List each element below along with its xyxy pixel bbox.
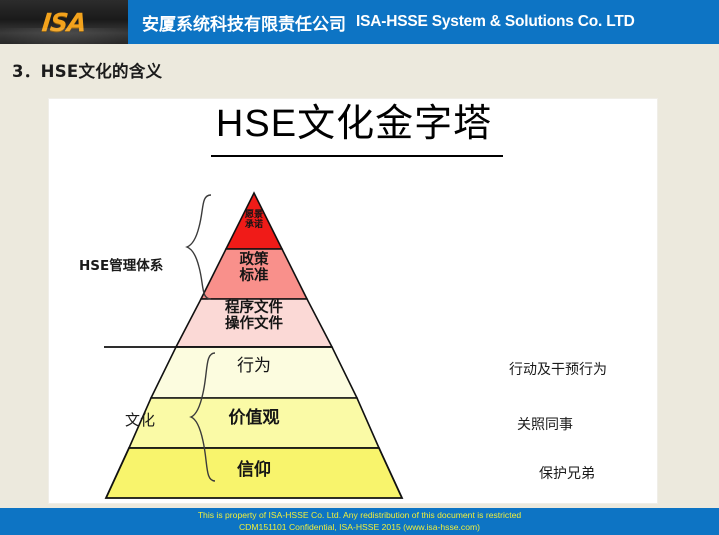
tier-label-procedure-line1: 程序文件 [169,301,339,317]
page-title: 3．HSE文化的含义 [12,58,162,82]
tier-label-values: 价值观 [159,409,349,427]
isa-logo: ISA [41,8,88,37]
tier-label-procedure-line2: 操作文件 [169,317,339,333]
header-title-bar: 安厦系统科技有限责任公司 ISA-HSSE System & Solutions… [128,0,719,44]
right-label-belief-note: 保护兄弟 [539,463,595,483]
left-label-culture: 文化 [125,409,155,430]
app-header: ISA 安厦系统科技有限责任公司 ISA-HSSE System & Solut… [0,0,719,44]
company-name-chinese: 安厦系统科技有限责任公司 [142,10,346,35]
tier-label-vision: 愿景 承诺 [204,211,304,230]
right-label-values-note: 关照同事 [517,414,573,434]
tier-label-procedure: 程序文件 操作文件 [169,301,339,332]
tier-label-policy-line2: 标准 [189,269,319,285]
tier-label-policy-line1: 政策 [189,253,319,269]
left-label-hse-system: HSE管理体系 [79,254,163,274]
tier-label-belief: 信仰 [159,461,349,479]
page-footer: This is property of ISA-HSSE Co. Ltd. An… [0,508,719,535]
footer-line-1: This is property of ISA-HSSE Co. Ltd. An… [0,510,719,522]
tier-label-behavior: 行为 [159,357,349,375]
tier-label-policy: 政策 标准 [189,253,319,284]
diagram-panel: HSE文化金字塔 愿景 承诺 [48,98,658,504]
pyramid-graphic [49,99,659,505]
right-label-behavior-note: 行动及干预行为 [509,359,607,379]
tier-label-vision-line2: 承诺 [204,221,304,231]
diagram-canvas: HSE文化金字塔 愿景 承诺 [49,99,659,505]
footer-line-2: CDM151101 Confidential, ISA-HSSE 2015 (w… [0,522,719,534]
company-name-english: ISA-HSSE System & Solutions Co. LTD [356,13,635,31]
brand-logo-area: ISA [0,0,128,44]
